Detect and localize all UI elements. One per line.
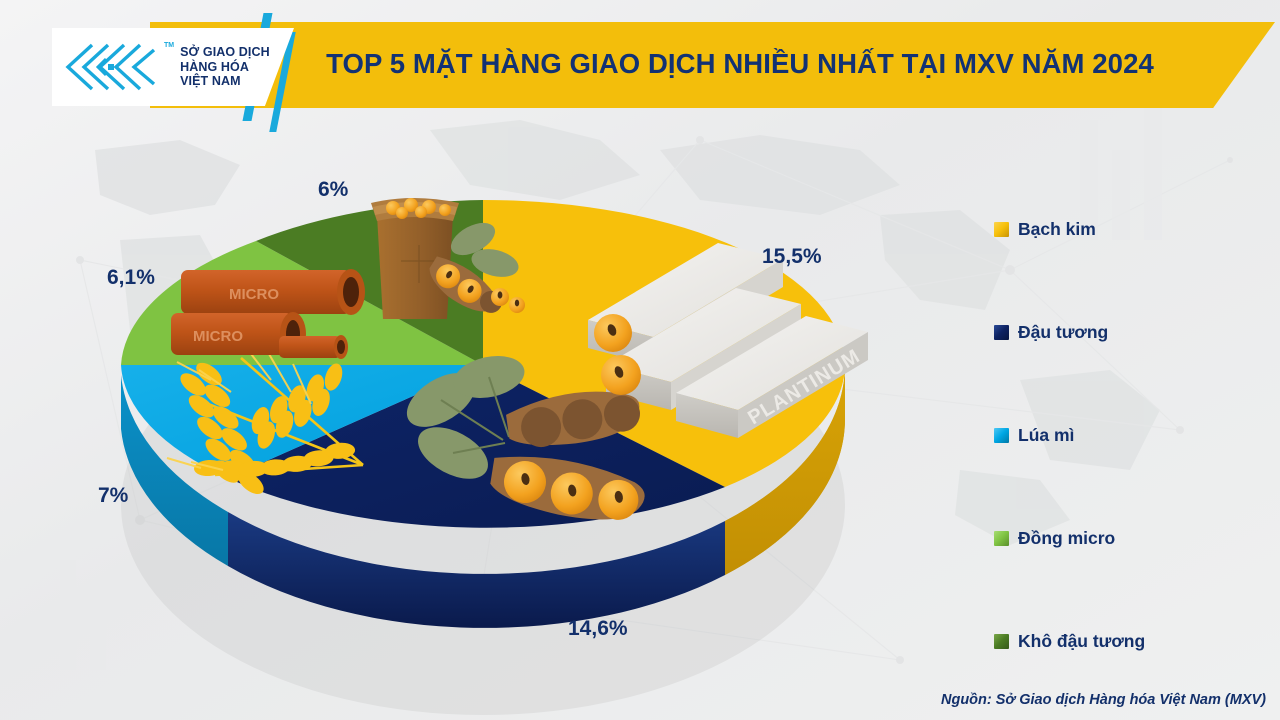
- copper-pipes-icon: MICRO MICRO: [171, 269, 365, 359]
- legend-label-khodautuong: Khô đậu tương: [1018, 631, 1145, 652]
- brand-logo-text: SỞ GIAO DỊCH HÀNG HÓA VIỆT NAM: [180, 45, 270, 89]
- logo-line-2: HÀNG HÓA: [180, 60, 249, 74]
- pie-label-khodautuong: 6%: [318, 178, 348, 202]
- legend-item-luami[interactable]: Lúa mì: [994, 384, 1274, 487]
- pie-label-dongmicro: 6,1%: [107, 266, 155, 290]
- copper-pipe-label-2: MICRO: [193, 328, 243, 345]
- brand-logo: TM SỞ GIAO DỊCH HÀNG HÓA VIỆT NAM: [52, 28, 294, 106]
- chart-legend: Bạch kim Đậu tương Lúa mì Đồng micro Khô…: [994, 178, 1274, 693]
- legend-swatch-luami: [994, 428, 1009, 443]
- legend-item-dautuong[interactable]: Đậu tương: [994, 281, 1274, 384]
- mxv-logo-icon: [62, 41, 158, 93]
- legend-swatch-khodautuong: [994, 634, 1009, 649]
- copper-pipe-label-1: MICRO: [229, 286, 279, 303]
- pie-label-bachkim: 15,5%: [762, 245, 822, 269]
- source-note: Nguồn: Sở Giao dịch Hàng hóa Việt Nam (M…: [941, 692, 1266, 708]
- legend-label-dautuong: Đậu tương: [1018, 322, 1108, 343]
- logo-line-1: SỞ GIAO DỊCH: [180, 45, 270, 59]
- legend-swatch-dautuong: [994, 325, 1009, 340]
- legend-item-dongmicro[interactable]: Đồng micro: [994, 487, 1274, 590]
- logo-line-3: VIỆT NAM: [180, 74, 241, 88]
- legend-label-dongmicro: Đồng micro: [1018, 528, 1115, 549]
- pie-label-luami: 7%: [98, 484, 128, 508]
- legend-item-khodautuong[interactable]: Khô đậu tương: [994, 590, 1274, 693]
- pie-chart: PLANTINUM: [113, 165, 873, 645]
- legend-swatch-dongmicro: [994, 531, 1009, 546]
- trademark-icon: TM: [164, 42, 174, 49]
- page-title: TOP 5 MẶT HÀNG GIAO DỊCH NHIỀU NHẤT TẠI …: [310, 48, 1170, 80]
- legend-item-bachkim[interactable]: Bạch kim: [994, 178, 1274, 281]
- legend-label-bachkim: Bạch kim: [1018, 219, 1096, 240]
- legend-swatch-bachkim: [994, 222, 1009, 237]
- pie-label-dautuong: 14,6%: [568, 617, 628, 641]
- legend-label-luami: Lúa mì: [1018, 425, 1074, 446]
- header-banner: TM SỞ GIAO DỊCH HÀNG HÓA VIỆT NAM TOP 5 …: [0, 8, 1275, 108]
